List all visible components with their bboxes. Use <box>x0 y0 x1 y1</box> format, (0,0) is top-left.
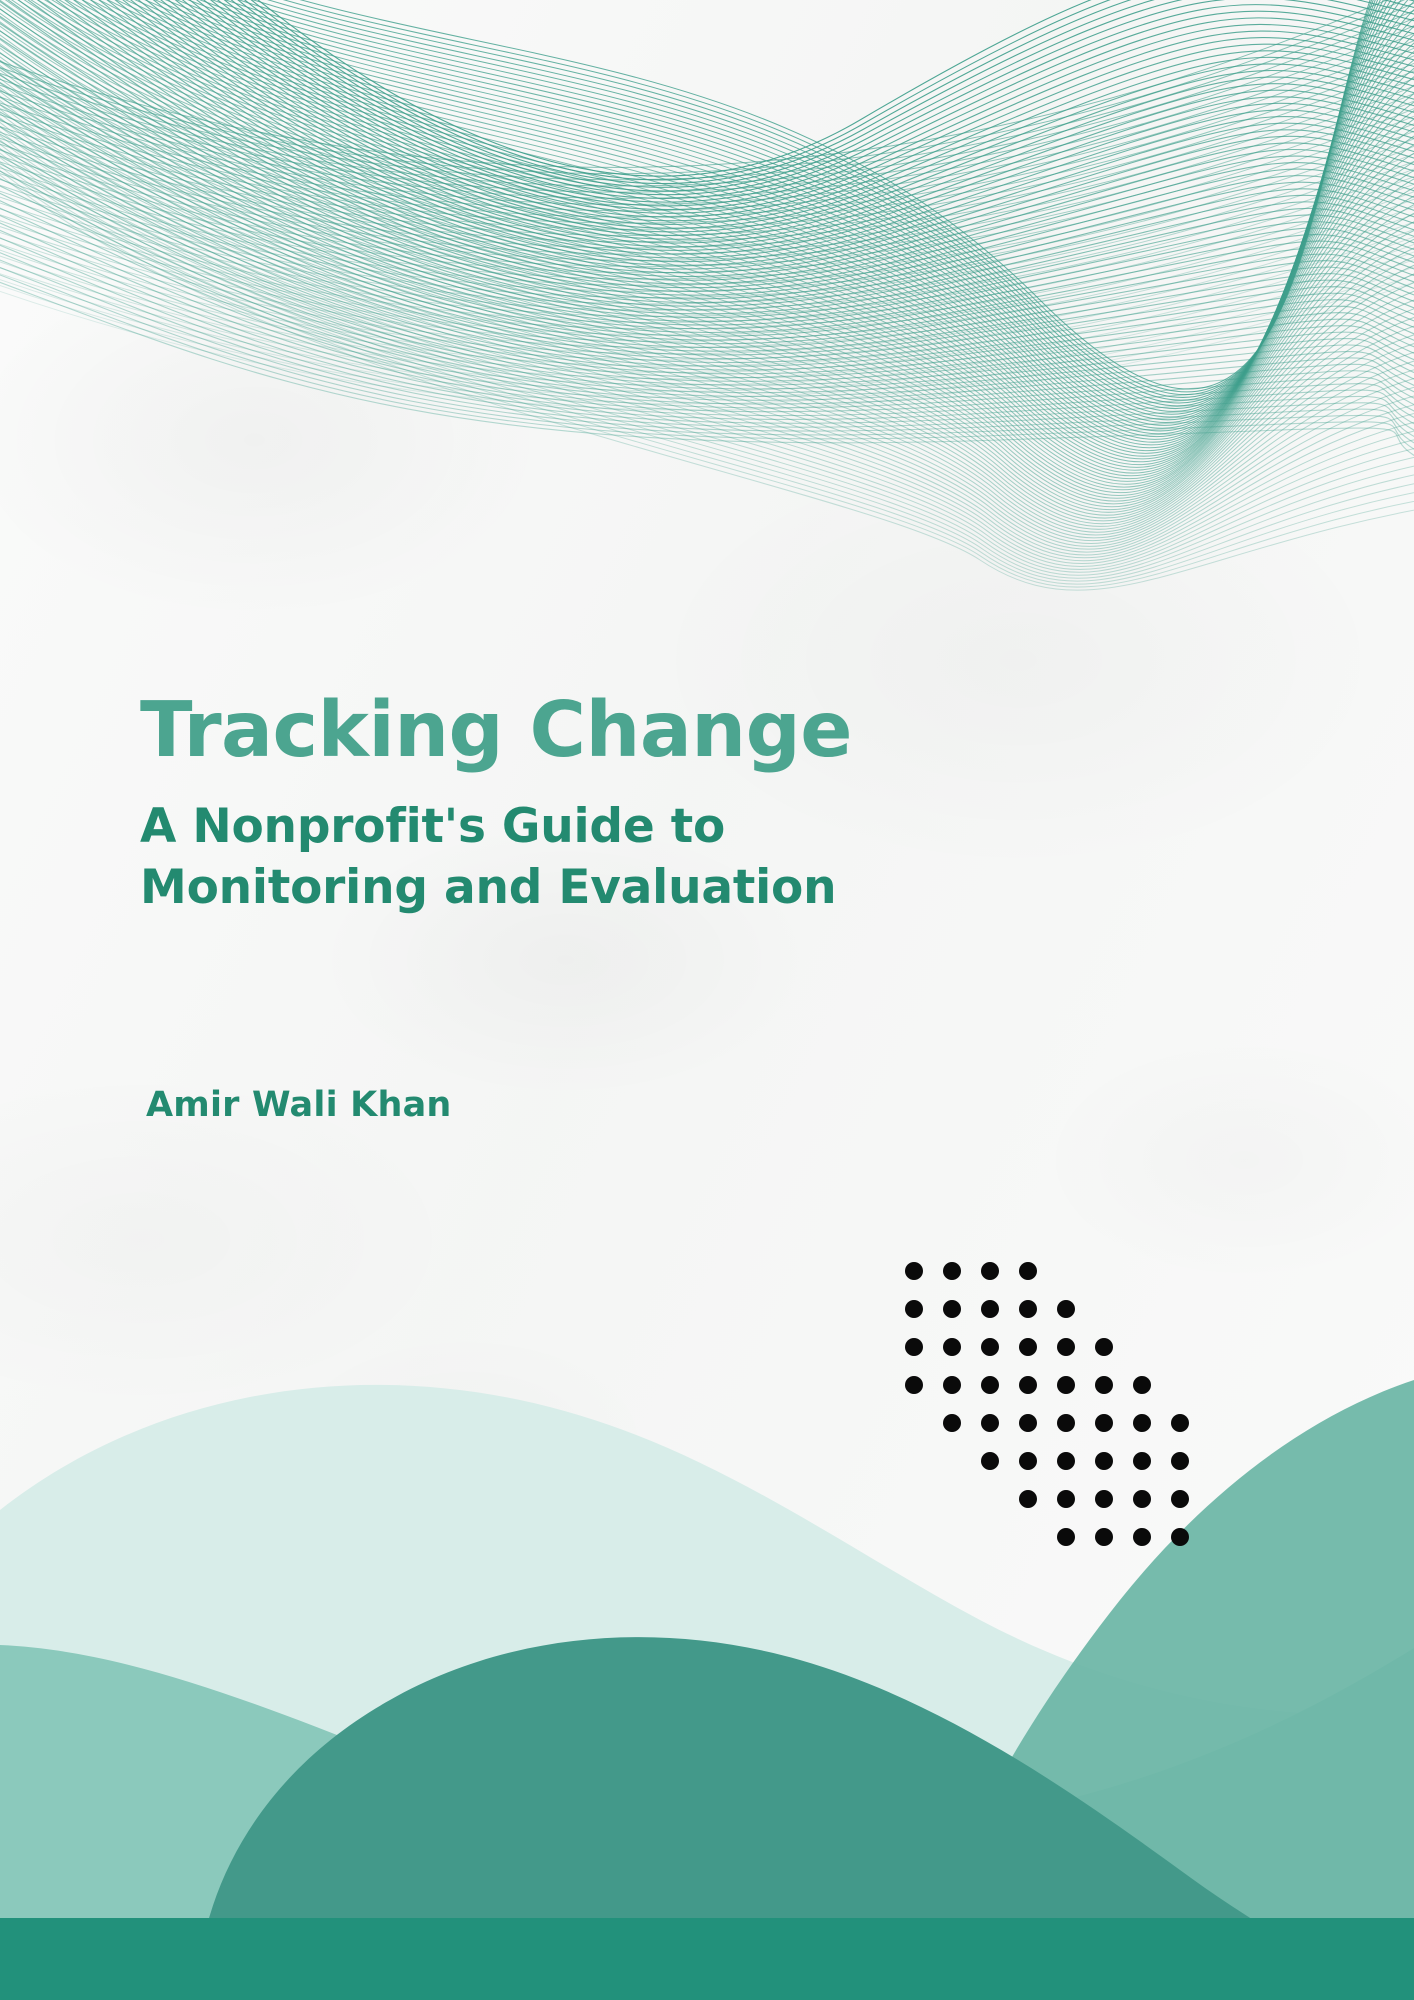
grid-dot <box>943 1376 961 1394</box>
grid-dot <box>981 1300 999 1318</box>
grid-dot <box>1133 1528 1151 1546</box>
grid-dot <box>1133 1452 1151 1470</box>
book-title: Tracking Change <box>140 690 1140 772</box>
staggered-dot-grid <box>0 0 1414 2000</box>
grid-dot <box>1019 1452 1037 1470</box>
grid-dot <box>943 1300 961 1318</box>
grid-dot <box>1095 1490 1113 1508</box>
grid-dot <box>1057 1528 1075 1546</box>
grid-dot <box>943 1262 961 1280</box>
grid-dot <box>1057 1300 1075 1318</box>
grid-dot <box>905 1300 923 1318</box>
grid-dot <box>981 1262 999 1280</box>
title-block: Tracking Change A Nonprofit's Guide to M… <box>140 690 1140 918</box>
grid-dot <box>1057 1490 1075 1508</box>
grid-dot <box>1133 1490 1151 1508</box>
grid-dot <box>981 1338 999 1356</box>
grid-dot <box>905 1338 923 1356</box>
grid-dot <box>905 1262 923 1280</box>
grid-dot <box>1095 1414 1113 1432</box>
grid-dot <box>1057 1338 1075 1356</box>
grid-dot <box>1171 1452 1189 1470</box>
book-cover: Tracking Change A Nonprofit's Guide to M… <box>0 0 1414 2000</box>
grid-dot <box>1057 1414 1075 1432</box>
grid-dot <box>981 1452 999 1470</box>
grid-dot <box>1171 1414 1189 1432</box>
grid-dot <box>1019 1490 1037 1508</box>
book-subtitle: A Nonprofit's Guide to Monitoring and Ev… <box>140 796 1140 918</box>
grid-dot <box>905 1376 923 1394</box>
grid-dot <box>1171 1490 1189 1508</box>
grid-dot <box>1133 1414 1151 1432</box>
grid-dot <box>943 1338 961 1356</box>
grid-dot <box>1171 1528 1189 1546</box>
grid-dot <box>1019 1262 1037 1280</box>
grid-dot <box>943 1414 961 1432</box>
grid-dot <box>1019 1300 1037 1318</box>
grid-dot <box>981 1414 999 1432</box>
grid-dot <box>1095 1376 1113 1394</box>
grid-dot <box>1057 1376 1075 1394</box>
grid-dot <box>1095 1528 1113 1546</box>
grid-dot <box>1095 1338 1113 1356</box>
grid-dot <box>1095 1452 1113 1470</box>
book-author: Amir Wali Khan <box>146 1085 452 1125</box>
grid-dot <box>1133 1376 1151 1394</box>
grid-dot <box>1019 1376 1037 1394</box>
grid-dot <box>1019 1414 1037 1432</box>
grid-dot <box>1057 1452 1075 1470</box>
grid-dot <box>1019 1338 1037 1356</box>
grid-dot <box>981 1376 999 1394</box>
